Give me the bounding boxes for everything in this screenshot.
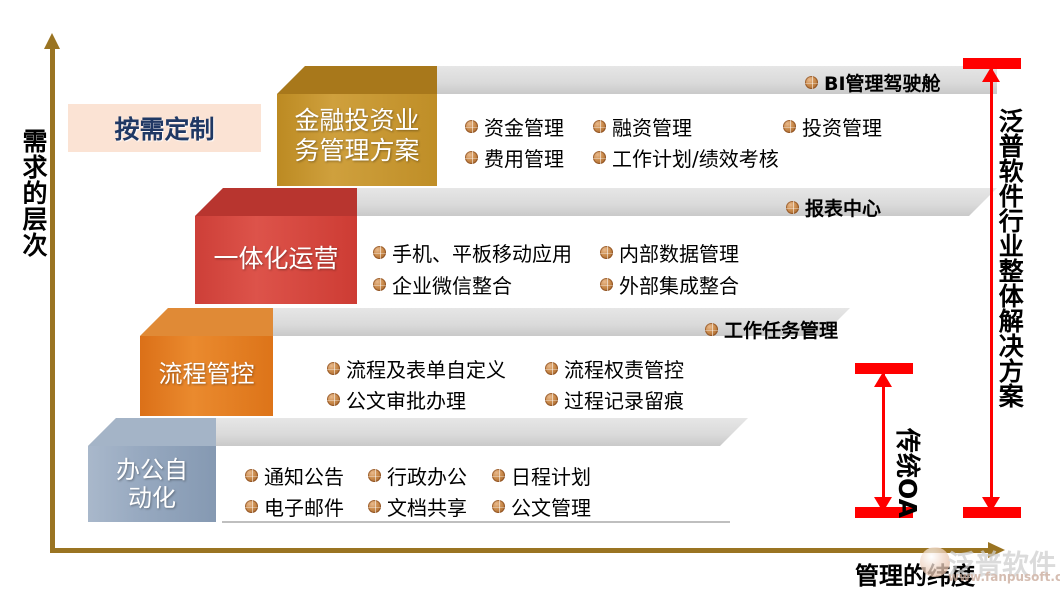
tier-finance-header-item: BI管理驾驶舱 — [805, 69, 941, 96]
sphere-bullet-icon — [327, 393, 340, 406]
measure-traditional-oa-label: 传统OA — [891, 428, 927, 518]
sphere-bullet-icon — [786, 201, 799, 214]
tier-finance-header-label: BI管理驾驶舱 — [824, 69, 941, 96]
list-item: 工作计划/绩效考核 — [593, 143, 779, 172]
watermark: 泛普软件 www.fanpusoft.com — [920, 543, 1060, 589]
sphere-bullet-icon — [465, 151, 478, 164]
list-item: 投资管理 — [783, 112, 882, 141]
watermark-url: www.fanpusoft.com — [948, 570, 1060, 584]
tier-process-header-item: 工作任务管理 — [705, 316, 838, 343]
tier-integrated-box[interactable]: 一体化运营 — [195, 188, 357, 304]
tier-process-title: 流程管控 — [140, 360, 273, 388]
measure-arrowhead-up-icon — [874, 372, 892, 387]
sphere-bullet-icon — [545, 362, 558, 375]
list-item: 内部数据管理 — [600, 238, 739, 267]
watermark-logo-icon — [920, 547, 950, 577]
vertical-axis-arrowhead-icon — [44, 33, 60, 49]
tier-process-header-label: 工作任务管理 — [724, 316, 838, 343]
horizontal-axis-line — [50, 548, 995, 553]
tier-integrated-header-item: 报表中心 — [786, 194, 881, 221]
measure-fanpu-solution-label: 泛普软件行业整体解决方案 — [996, 108, 1022, 528]
measure-stem — [882, 374, 885, 512]
sphere-bullet-icon — [373, 278, 386, 291]
measure-arrowhead-up-icon — [982, 67, 1000, 82]
measure-stem — [990, 69, 993, 512]
on-demand-customization-badge: 按需定制 — [68, 104, 261, 152]
sphere-bullet-icon — [593, 120, 606, 133]
list-item: 过程记录留痕 — [545, 385, 684, 414]
tier-finance-title-line2: 务管理方案 — [277, 136, 437, 166]
sphere-bullet-icon — [465, 120, 478, 133]
list-item: 行政办公 — [368, 461, 467, 490]
list-item: 资金管理 — [465, 112, 564, 141]
list-item: 通知公告 — [245, 461, 344, 490]
sphere-bullet-icon — [368, 469, 381, 482]
sphere-bullet-icon — [545, 393, 558, 406]
list-item: 外部集成整合 — [600, 270, 739, 299]
tier-oa-baseline — [222, 521, 730, 523]
tier-finance-box[interactable]: 金融投资业 务管理方案 — [277, 66, 437, 186]
list-item: 费用管理 — [465, 143, 564, 172]
tier-oa-title-line1: 办公自 — [88, 456, 216, 484]
list-item: 企业微信整合 — [373, 270, 512, 299]
sphere-bullet-icon — [492, 469, 505, 482]
tier-integrated-header-label: 报表中心 — [805, 194, 881, 221]
tier-oa-title-line2: 动化 — [88, 484, 216, 512]
sphere-bullet-icon — [245, 469, 258, 482]
vertical-axis-label: 需求的层次 — [2, 128, 46, 258]
sphere-bullet-icon — [783, 120, 796, 133]
sphere-bullet-icon — [245, 500, 258, 513]
list-item: 流程及表单自定义 — [327, 354, 506, 383]
tier-integrated-title: 一体化运营 — [195, 244, 357, 274]
sphere-bullet-icon — [492, 500, 505, 513]
list-item: 文档共享 — [368, 492, 467, 521]
vertical-axis-line — [50, 46, 55, 551]
sphere-bullet-icon — [805, 76, 818, 89]
sphere-bullet-icon — [373, 246, 386, 259]
list-item: 公文审批办理 — [327, 385, 466, 414]
list-item: 电子邮件 — [245, 492, 344, 521]
sphere-bullet-icon — [705, 323, 718, 336]
tier-finance-title-line1: 金融投资业 — [277, 106, 437, 136]
diagram-canvas: 需求的层次 管理的纬度 按需定制 金融 — [0, 0, 1060, 594]
list-item: 流程权责管控 — [545, 354, 684, 383]
sphere-bullet-icon — [600, 246, 613, 259]
sphere-bullet-icon — [368, 500, 381, 513]
list-item: 公文管理 — [492, 492, 591, 521]
list-item: 日程计划 — [492, 461, 591, 490]
tier-oa-box[interactable]: 办公自 动化 — [88, 418, 216, 522]
list-item: 手机、平板移动应用 — [373, 238, 572, 267]
sphere-bullet-icon — [593, 151, 606, 164]
sphere-bullet-icon — [600, 278, 613, 291]
tier-process-box[interactable]: 流程管控 — [140, 308, 273, 416]
list-item: 融资管理 — [593, 112, 692, 141]
sphere-bullet-icon — [327, 362, 340, 375]
